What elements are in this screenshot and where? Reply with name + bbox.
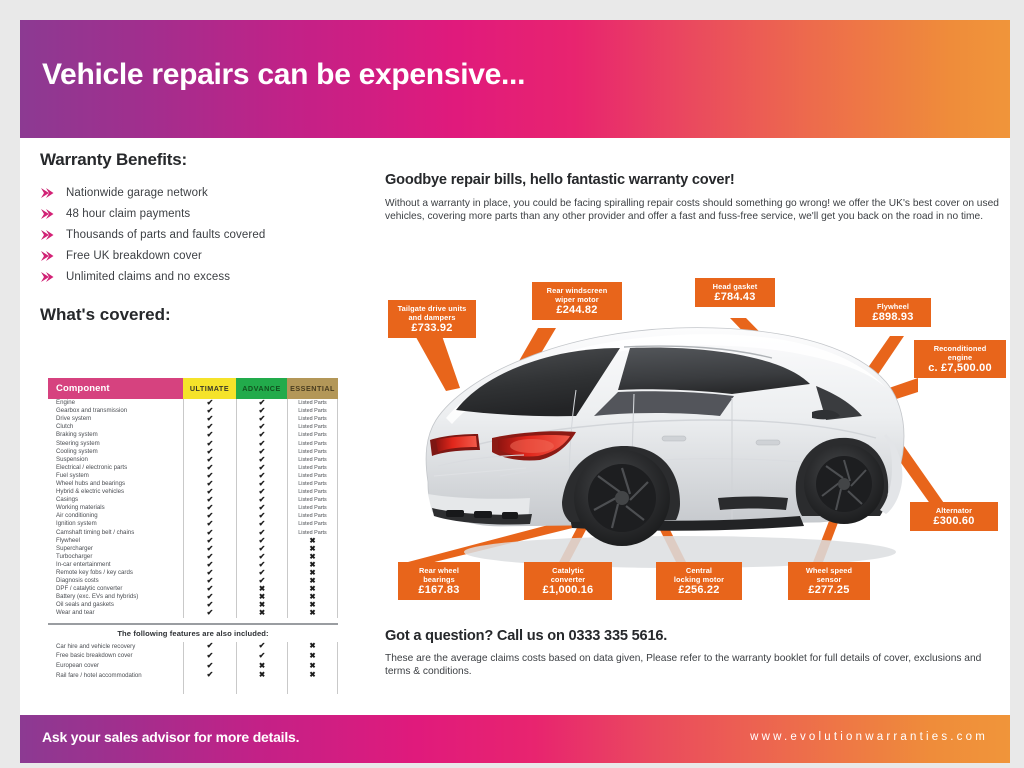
coverage-cell-essential: Listed Parts [287, 488, 338, 496]
callout-wheel-speed-sensor: Wheel speedsensor £277.25 [788, 562, 870, 600]
component-name: Casings [48, 496, 183, 504]
callout-label: Catalyticconverter [531, 566, 605, 584]
chevron-right-icon [40, 229, 66, 241]
table-row: DPF / catalytic converter✔✖✖ [48, 585, 338, 593]
question-block: Got a question? Call us on 0333 335 5616… [385, 628, 1005, 679]
table-row: Wear and tear✔✖✖ [48, 609, 338, 617]
benefit-item: Unlimited claims and no excess [40, 266, 350, 287]
extra-name: Free basic breakdown cover [48, 651, 183, 660]
component-name: Diagnosis costs [48, 577, 183, 585]
table-header-row: Component ULTIMATE ADVANCE ESSENTIAL [48, 378, 338, 399]
extra-name: Rail fare / hotel accommodation [48, 671, 183, 680]
extra-cell-essential: ✖ [287, 651, 338, 661]
component-name: Remote key fobs / key cards [48, 569, 183, 577]
table-row: Oil seals and gaskets✔✖✖ [48, 601, 338, 609]
intro-title: Goodbye repair bills, hello fantastic wa… [385, 172, 1010, 188]
component-name: Wheel hubs and bearings [48, 480, 183, 488]
chevron-right-icon [40, 208, 66, 220]
extra-cell-ultimate: ✔ [183, 661, 236, 671]
coverage-cell-essential: Listed Parts [287, 415, 338, 423]
component-name: Cooling system [48, 448, 183, 456]
table-row: Fuel system✔✔Listed Parts [48, 472, 338, 480]
extra-name: European cover [48, 661, 183, 670]
benefit-label: Nationwide garage network [66, 187, 208, 199]
component-name: In-car entertainment [48, 561, 183, 569]
extra-cell-advance: ✔ [236, 642, 287, 652]
callout-price: £733.92 [395, 324, 469, 333]
extras-row: Rail fare / hotel accommodation✔✖✖ [48, 670, 338, 680]
benefit-item: Thousands of parts and faults covered [40, 224, 350, 245]
table-row: Wheel hubs and bearings✔✔Listed Parts [48, 480, 338, 488]
extra-cell-advance: ✔ [236, 651, 287, 661]
benefit-label: 48 hour claim payments [66, 208, 190, 220]
table-row: Cooling system✔✔Listed Parts [48, 448, 338, 456]
callout-label: Flywheel [862, 302, 924, 311]
coverage-cell-essential: Listed Parts [287, 480, 338, 488]
header-banner: Vehicle repairs can be expensive... [20, 20, 1010, 138]
callout-label: Wheel speedsensor [795, 566, 863, 584]
coverage-cell-essential: ✖ [287, 609, 338, 617]
extras-row: Car hire and vehicle recovery✔✔✖ [48, 642, 338, 652]
benefit-label: Thousands of parts and faults covered [66, 229, 265, 241]
callout-price: £300.60 [917, 517, 991, 526]
coverage-cell-essential: Listed Parts [287, 423, 338, 431]
extras-row: Free basic breakdown cover✔✔✖ [48, 651, 338, 661]
table-row: Diagnosis costs✔✔✖ [48, 577, 338, 585]
table-row: Turbocharger✔✔✖ [48, 553, 338, 561]
callout-rear-wheel-bearings: Rear wheelbearings £167.83 [398, 562, 480, 600]
coverage-cell-essential: Listed Parts [287, 439, 338, 447]
table-row: Engine✔✔Listed Parts [48, 399, 338, 407]
coverage-cell-essential: Listed Parts [287, 407, 338, 415]
question-title: Got a question? Call us on 0333 335 5616… [385, 628, 1005, 644]
component-name: Turbocharger [48, 553, 183, 561]
column-header-component: Component [48, 378, 183, 399]
component-name: Air conditioning [48, 512, 183, 520]
footer-cta: Ask your sales advisor for more details. [42, 729, 299, 745]
table-row: In-car entertainment✔✔✖ [48, 561, 338, 569]
coverage-cell-essential: Listed Parts [287, 520, 338, 528]
component-name: Engine [48, 399, 183, 407]
callout-price: £898.93 [862, 313, 924, 322]
table-row: Supercharger✔✔✖ [48, 545, 338, 553]
callout-central-locking-motor: Centrallocking motor £256.22 [656, 562, 742, 600]
extra-name: Car hire and vehicle recovery [48, 642, 183, 651]
car-diagram: Tailgate drive unitsand dampers £733.92 … [380, 270, 1015, 615]
chevron-right-icon [40, 187, 66, 199]
component-name: Battery (exc. EVs and hybrids) [48, 593, 183, 601]
extra-cell-ultimate: ✔ [183, 642, 236, 652]
callout-label: Tailgate drive unitsand dampers [395, 304, 469, 322]
table-row: Camshaft timing belt / chains✔✔Listed Pa… [48, 529, 338, 537]
extra-cell-ultimate: ✔ [183, 670, 236, 680]
component-name: Working materials [48, 504, 183, 512]
extra-cell-advance: ✖ [236, 661, 287, 671]
table-row: Clutch✔✔Listed Parts [48, 423, 338, 431]
component-name: Clutch [48, 423, 183, 431]
table-row: Hybrid & electric vehicles✔✔Listed Parts [48, 488, 338, 496]
callout-tailgate-drive-units: Tailgate drive unitsand dampers £733.92 [388, 300, 476, 338]
extras-body: Car hire and vehicle recovery✔✔✖Free bas… [48, 642, 338, 680]
component-name: Wear and tear [48, 609, 183, 617]
extra-cell-essential: ✖ [287, 661, 338, 671]
benefit-label: Unlimited claims and no excess [66, 271, 230, 283]
footer-banner: Ask your sales advisor for more details.… [20, 715, 1010, 763]
callout-label: Alternator [917, 506, 991, 515]
component-name: Oil seals and gaskets [48, 601, 183, 609]
callout-rear-windscreen-wiper-motor: Rear windscreenwiper motor £244.82 [532, 282, 622, 320]
coverage-cell-essential: Listed Parts [287, 464, 338, 472]
callout-reconditioned-engine: Reconditionedengine c. £7,500.00 [914, 340, 1006, 378]
component-name: Fuel system [48, 472, 183, 480]
extra-cell-essential: ✖ [287, 642, 338, 652]
chevron-right-icon [40, 250, 66, 262]
component-name: DPF / catalytic converter [48, 585, 183, 593]
covered-title: What's covered: [40, 305, 350, 325]
poster-page: Vehicle repairs can be expensive... Warr… [20, 20, 1010, 750]
chevron-right-icon [40, 271, 66, 283]
callout-label: Head gasket [702, 282, 768, 291]
callout-catalytic-converter: Catalyticconverter £1,000.16 [524, 562, 612, 600]
footer-website[interactable]: www.evolutionwarranties.com [750, 731, 988, 743]
benefits-list: Nationwide garage network48 hour claim p… [40, 182, 350, 287]
intro-body: Without a warranty in place, you could b… [385, 197, 1010, 224]
component-name: Ignition system [48, 520, 183, 528]
coverage-cell-ultimate: ✔ [183, 609, 236, 617]
extras-row: European cover✔✖✖ [48, 661, 338, 671]
left-column: Warranty Benefits: Nationwide garage net… [40, 150, 350, 325]
component-name: Electrical / electronic parts [48, 464, 183, 472]
callout-price: £244.82 [539, 306, 615, 315]
callout-price: £167.83 [405, 586, 473, 595]
benefit-item: Free UK breakdown cover [40, 245, 350, 266]
question-body: These are the average claims costs based… [385, 652, 1005, 679]
callout-price: £1,000.16 [531, 586, 605, 595]
table-row: Gearbox and transmission✔✔Listed Parts [48, 407, 338, 415]
component-name: Supercharger [48, 545, 183, 553]
coverage-table: Component ULTIMATE ADVANCE ESSENTIAL Eng… [48, 378, 338, 678]
column-header-ultimate: ULTIMATE [183, 378, 236, 399]
callout-label: Rear wheelbearings [405, 566, 473, 584]
component-name: Flywheel [48, 537, 183, 545]
extra-cell-essential: ✖ [287, 670, 338, 680]
callout-price: £256.22 [663, 586, 735, 595]
table-row: Suspension✔✔Listed Parts [48, 456, 338, 464]
callout-price: £784.43 [702, 293, 768, 302]
table-row: Ignition system✔✔Listed Parts [48, 520, 338, 528]
component-name: Hybrid & electric vehicles [48, 488, 183, 496]
component-name: Braking system [48, 431, 183, 439]
table-row: Drive system✔✔Listed Parts [48, 415, 338, 423]
benefit-item: 48 hour claim payments [40, 203, 350, 224]
callout-alternator: Alternator £300.60 [910, 502, 998, 531]
table-row: Casings✔✔Listed Parts [48, 496, 338, 504]
callout-head-gasket: Head gasket £784.43 [695, 278, 775, 307]
coverage-cell-essential: Listed Parts [287, 496, 338, 504]
component-name: Drive system [48, 415, 183, 423]
intro-block: Goodbye repair bills, hello fantastic wa… [385, 172, 1010, 224]
callout-label: Centrallocking motor [663, 566, 735, 584]
table-body: Engine✔✔Listed PartsGearbox and transmis… [48, 399, 338, 618]
component-name: Steering system [48, 440, 183, 448]
table-row: Working materials✔✔Listed Parts [48, 504, 338, 512]
coverage-cell-essential: Listed Parts [287, 504, 338, 512]
coverage-cell-essential: Listed Parts [287, 472, 338, 480]
benefit-label: Free UK breakdown cover [66, 250, 202, 262]
coverage-cell-advance: ✖ [236, 609, 287, 617]
table-row: Air conditioning✔✔Listed Parts [48, 512, 338, 520]
extra-cell-advance: ✖ [236, 670, 287, 680]
benefits-title: Warranty Benefits: [40, 150, 350, 170]
callout-label: Reconditionedengine [921, 344, 999, 362]
table-row: Steering system✔✔Listed Parts [48, 439, 338, 447]
extra-cell-ultimate: ✔ [183, 651, 236, 661]
component-name: Suspension [48, 456, 183, 464]
table-row: Flywheel✔✔✖ [48, 537, 338, 545]
callout-label: Rear windscreenwiper motor [539, 286, 615, 304]
component-name: Gearbox and transmission [48, 407, 183, 415]
extras-title: The following features are also included… [48, 625, 338, 642]
coverage-cell-essential: Listed Parts [287, 448, 338, 456]
coverage-cell-essential: Listed Parts [287, 431, 338, 439]
callout-price: c. £7,500.00 [921, 364, 999, 373]
coverage-cell-essential: Listed Parts [287, 456, 338, 464]
column-header-advance: ADVANCE [236, 378, 287, 399]
table-row: Braking system✔✔Listed Parts [48, 431, 338, 439]
benefit-item: Nationwide garage network [40, 182, 350, 203]
table-row: Electrical / electronic parts✔✔Listed Pa… [48, 464, 338, 472]
table-row: Battery (exc. EVs and hybrids)✔✖✖ [48, 593, 338, 601]
column-header-essential: ESSENTIAL [287, 378, 338, 399]
coverage-cell-essential: Listed Parts [287, 512, 338, 520]
callout-price: £277.25 [795, 586, 863, 595]
component-name: Camshaft timing belt / chains [48, 529, 183, 537]
callout-flywheel: Flywheel £898.93 [855, 298, 931, 327]
coverage-cell-essential: Listed Parts [287, 399, 338, 407]
table-row: Remote key fobs / key cards✔✔✖ [48, 569, 338, 577]
page-title: Vehicle repairs can be expensive... [42, 58, 525, 92]
table-footer-spacer [48, 680, 338, 694]
